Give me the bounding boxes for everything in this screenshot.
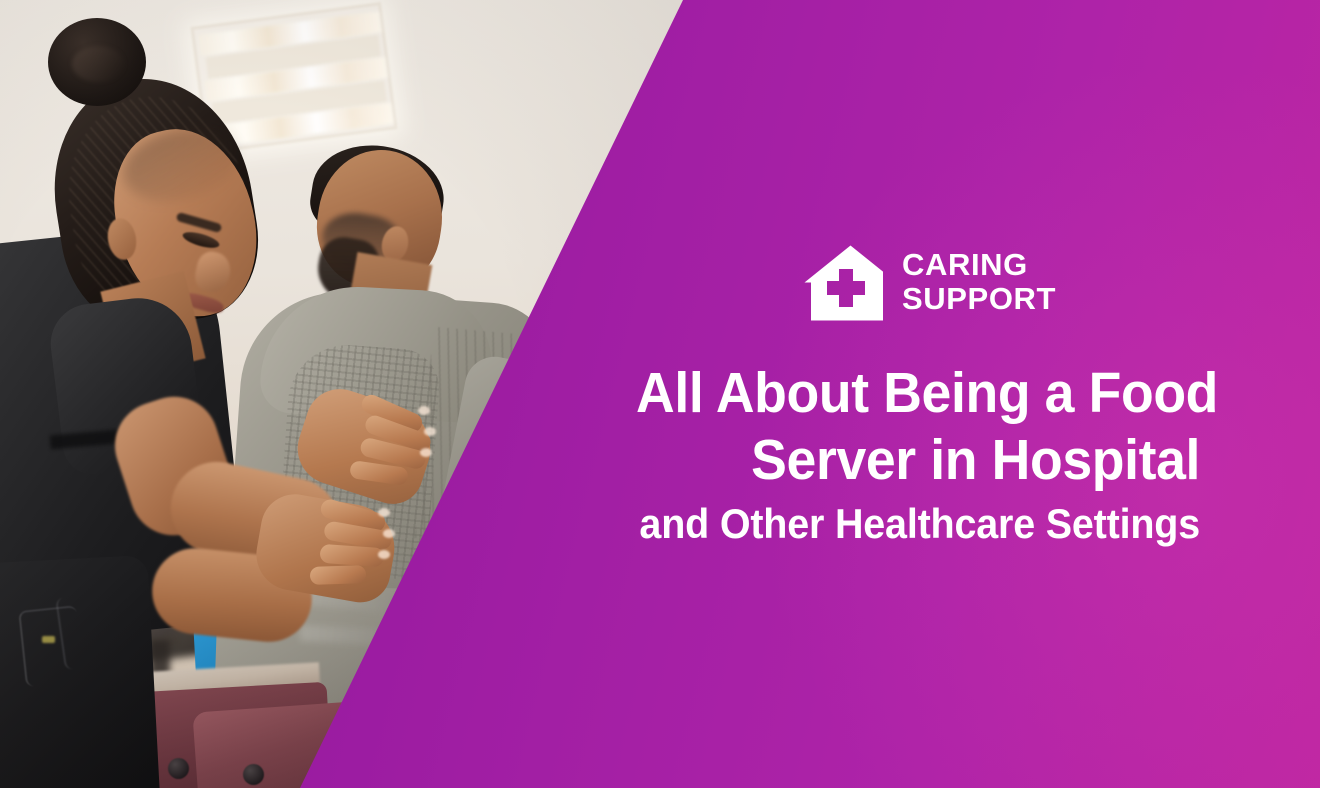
headline-subline: and Other Healthcare Settings: [636, 496, 1200, 552]
brand-name-line1: CARING: [902, 248, 1056, 282]
headline-block: All About Being a Food Server in Hospita…: [600, 360, 1200, 552]
blog-banner: CARING SUPPORT All About Being a Food Se…: [0, 0, 1320, 788]
fingernail: [378, 508, 390, 517]
fingernail: [383, 529, 395, 538]
therapist-bun-highlight: [72, 46, 124, 82]
fingernail: [378, 550, 390, 559]
fingernail: [420, 448, 432, 457]
brand-name: CARING SUPPORT: [902, 248, 1056, 316]
brand-logo[interactable]: CARING SUPPORT: [803, 243, 1018, 325]
fingernail: [418, 406, 430, 415]
therapist-pocket-tab: [42, 636, 55, 643]
treatment-table-knob: [243, 764, 264, 785]
brand-name-line2: SUPPORT: [902, 282, 1056, 316]
headline-line-1: All About Being a Food: [636, 360, 1200, 427]
house-with-medical-cross-icon: [803, 243, 883, 323]
treatment-table-knob: [168, 758, 189, 779]
fingernail: [424, 427, 436, 436]
finger: [310, 565, 367, 585]
headline-line-2: Server in Hospital: [636, 427, 1200, 494]
